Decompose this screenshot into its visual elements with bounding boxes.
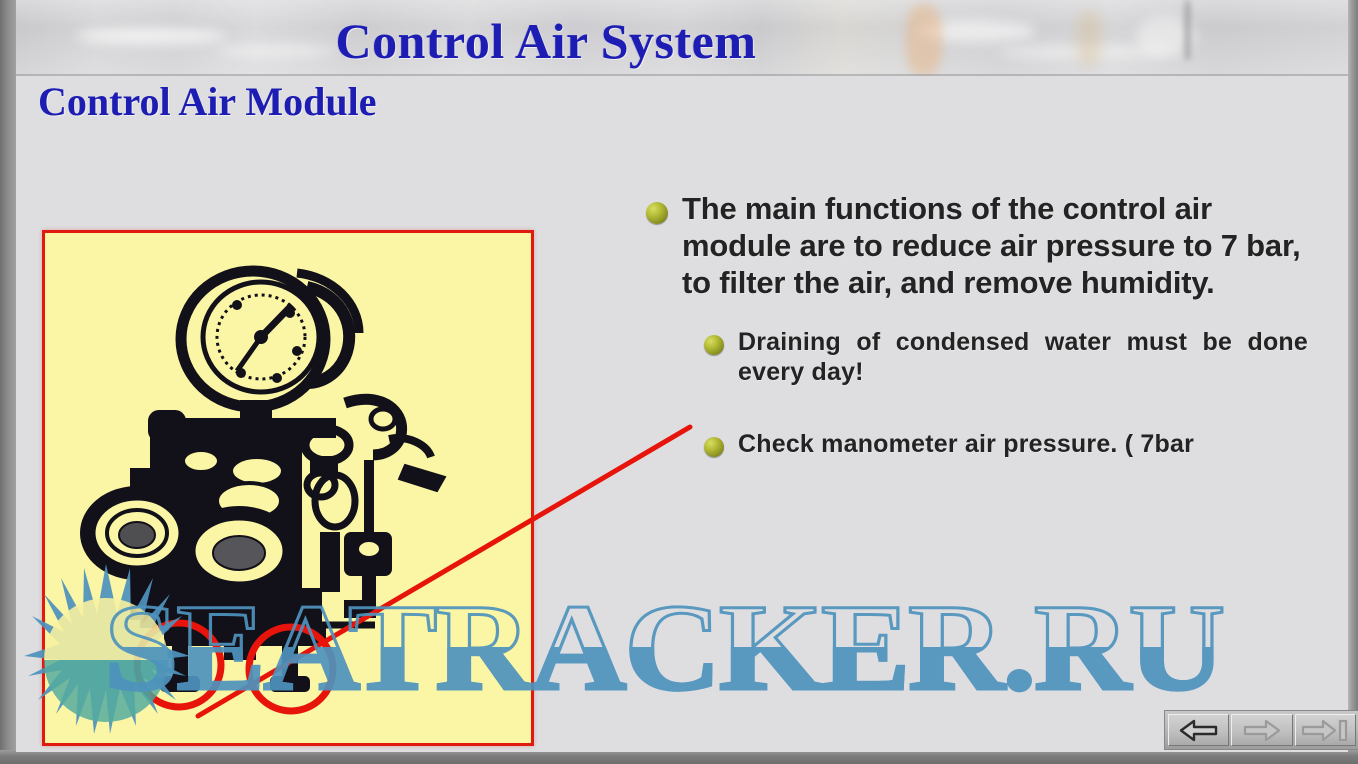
bullet-item-main-functions: The main functions of the control air mo… [626,190,1358,301]
figure-frame [42,230,534,746]
bullet-item-check-manometer: Check manometer air pressure. ( 7bar [626,429,1358,459]
bullet-text: Draining of condensed water must be done… [738,327,1308,387]
previous-slide-button[interactable] [1168,714,1229,746]
next-slide-button[interactable] [1231,714,1292,746]
bullet-item-draining: Draining of condensed water must be done… [626,327,1358,387]
bullet-text: Check manometer air pressure. ( 7bar [738,429,1358,459]
bullet-list: The main functions of the control air mo… [626,190,1358,459]
page-subtitle: Control Air Module [38,78,377,125]
page-title: Control Air System [16,12,1076,70]
player-bottom-border [0,750,1358,764]
bullet-sphere-icon [704,437,724,457]
control-air-module-diagram [45,233,531,743]
bullet-text: The main functions of the control air mo… [682,190,1314,301]
player-left-border [0,0,16,764]
slide-navigation-bar [1164,710,1358,750]
bullet-sphere-icon [646,202,668,224]
banner-texture-smear [1136,16,1196,56]
banner-divider [16,74,1348,76]
banner-texture-warm-streak [1076,10,1102,66]
arrow-right-to-end-icon [1301,718,1349,742]
video-player-screen: Control Air System Control Air Module [0,0,1358,764]
presentation-slide: Control Air System Control Air Module [16,0,1348,752]
banner-texture-dark-streak [1184,0,1191,60]
arrow-left-icon [1178,718,1220,742]
last-slide-button[interactable] [1295,714,1356,746]
bullet-sphere-icon [704,335,724,355]
arrow-right-icon [1241,718,1283,742]
